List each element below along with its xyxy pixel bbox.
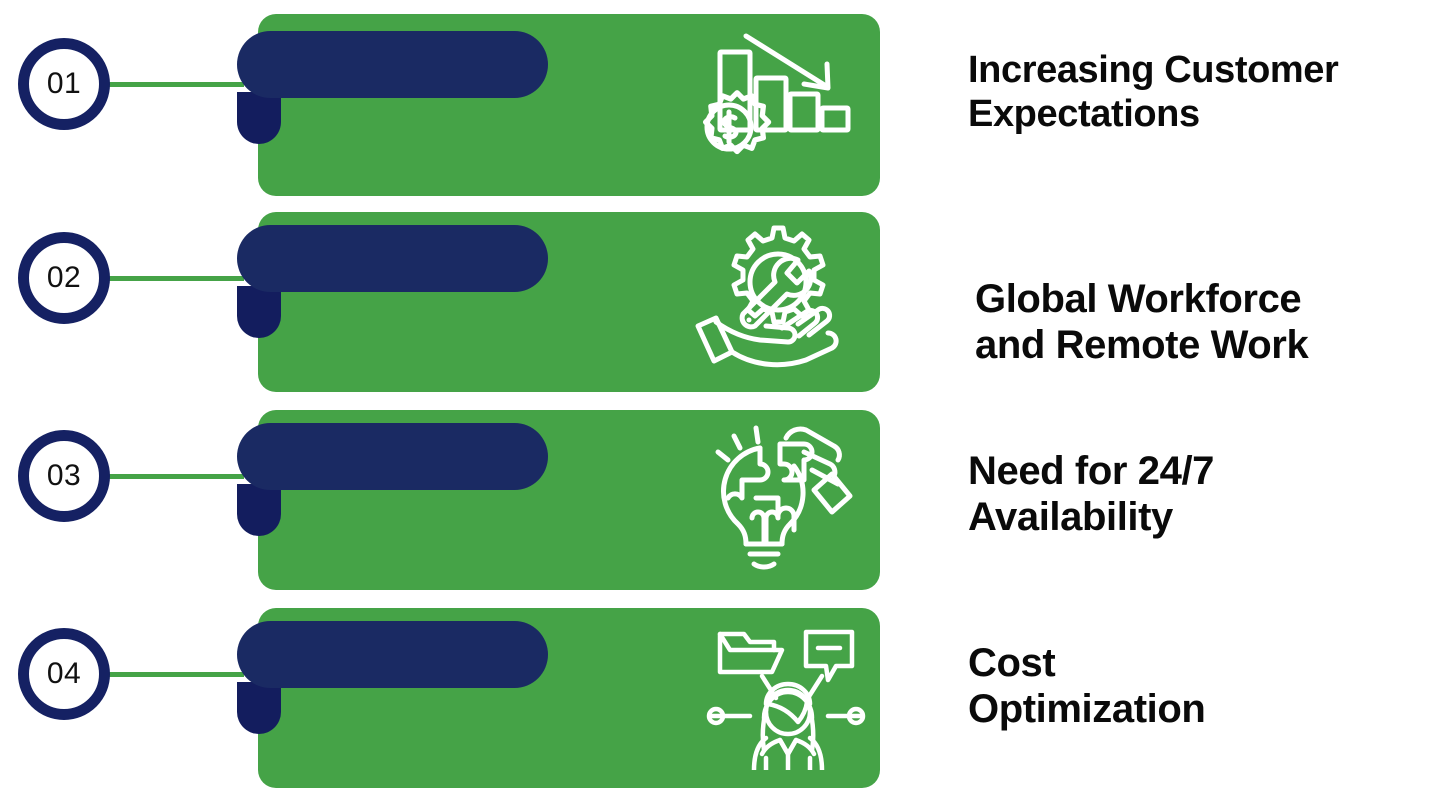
title-pill[interactable]: [237, 621, 548, 688]
hand-holding-gear-wrench-icon: [686, 222, 856, 374]
step-number-label: 01: [47, 69, 81, 99]
lightbulb-puzzle-hand-icon: [700, 422, 866, 574]
step-number-label: 04: [47, 659, 81, 689]
title-pill[interactable]: [237, 423, 548, 490]
title-pill[interactable]: [237, 31, 548, 98]
connector-line: [104, 672, 244, 677]
list-item[interactable]: 03: [0, 396, 1437, 594]
fold-accent: [237, 682, 281, 734]
list-item[interactable]: 02 Global Workforce and Remote Work: [0, 198, 1437, 396]
item-title: Increasing Customer Expectations: [968, 48, 1437, 136]
fold-accent: [237, 484, 281, 536]
title-pill[interactable]: [237, 225, 548, 292]
list-item[interactable]: 04: [0, 594, 1437, 794]
fold-accent: [237, 286, 281, 338]
item-title: Need for 24/7 Availability: [968, 448, 1437, 541]
step-number-badge[interactable]: 01: [18, 38, 110, 130]
item-title: Global Workforce and Remote Work: [975, 276, 1437, 369]
person-network-folder-chat-icon: [706, 618, 866, 770]
fold-accent: [237, 92, 281, 144]
declining-bar-chart-dollar-gear-icon: [686, 28, 854, 168]
step-number-badge[interactable]: 02: [18, 232, 110, 324]
step-number-label: 03: [47, 461, 81, 491]
step-number-badge[interactable]: 04: [18, 628, 110, 720]
item-title: Cost Optimization: [968, 640, 1437, 733]
step-number-label: 02: [47, 263, 81, 293]
connector-line: [104, 82, 244, 87]
step-number-badge[interactable]: 03: [18, 430, 110, 522]
list-item[interactable]: 01 Increasing Customer Expectations: [0, 0, 1437, 200]
infographic-canvas: 01 Increasing Customer Expectations: [0, 0, 1437, 809]
connector-line: [104, 474, 244, 479]
connector-line: [104, 276, 244, 281]
